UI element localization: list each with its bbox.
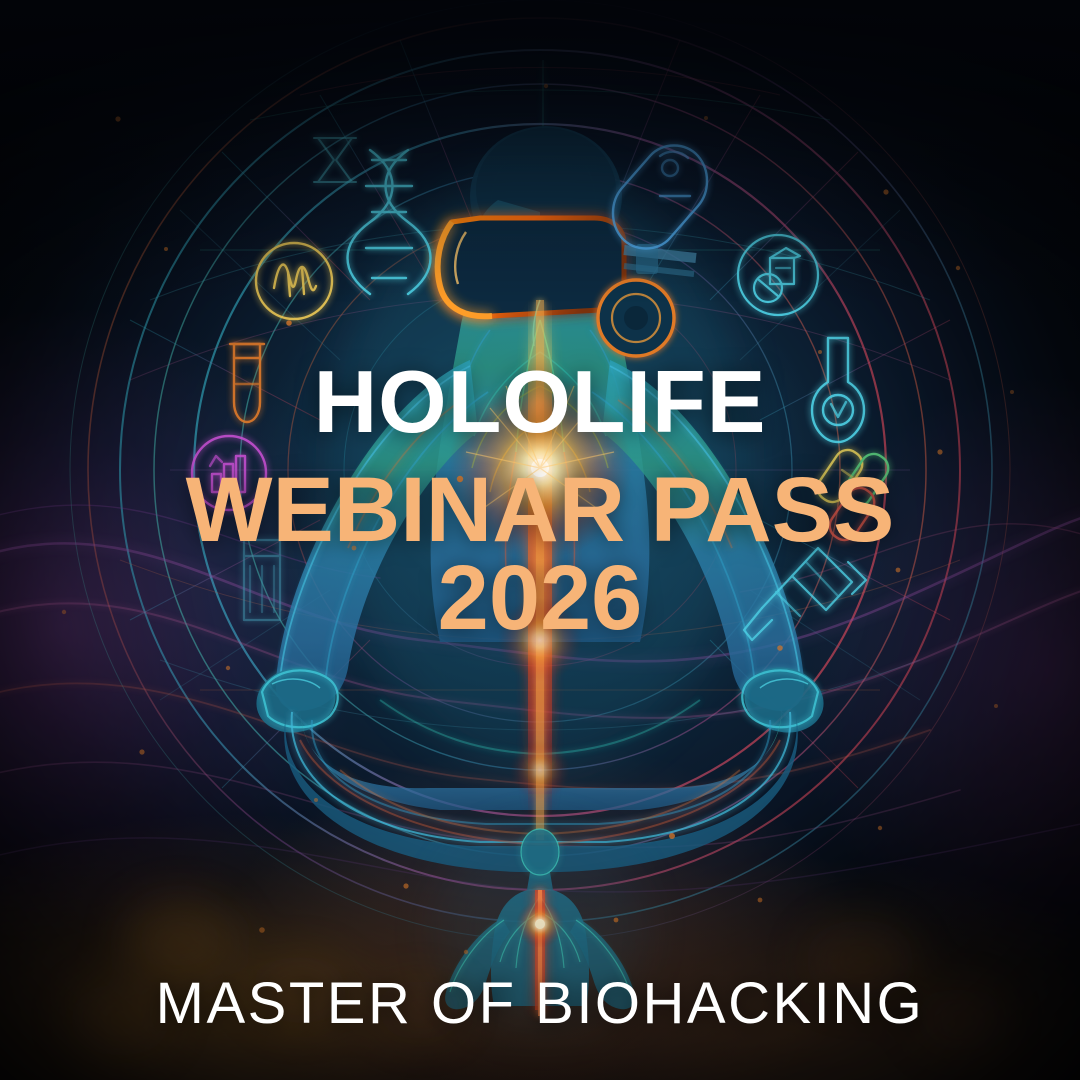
page-title-brand: HOLOLIFE	[0, 358, 1080, 446]
pills-icon	[738, 235, 818, 315]
tagline: MASTER OF BIOHACKING	[0, 975, 1080, 1033]
page-title-product: WEBINAR PASS	[0, 464, 1080, 556]
poster-canvas: HOLOLIFE WEBINAR PASS 2026 MASTER OF BIO…	[0, 0, 1080, 1080]
page-title-year: 2026	[0, 552, 1080, 644]
